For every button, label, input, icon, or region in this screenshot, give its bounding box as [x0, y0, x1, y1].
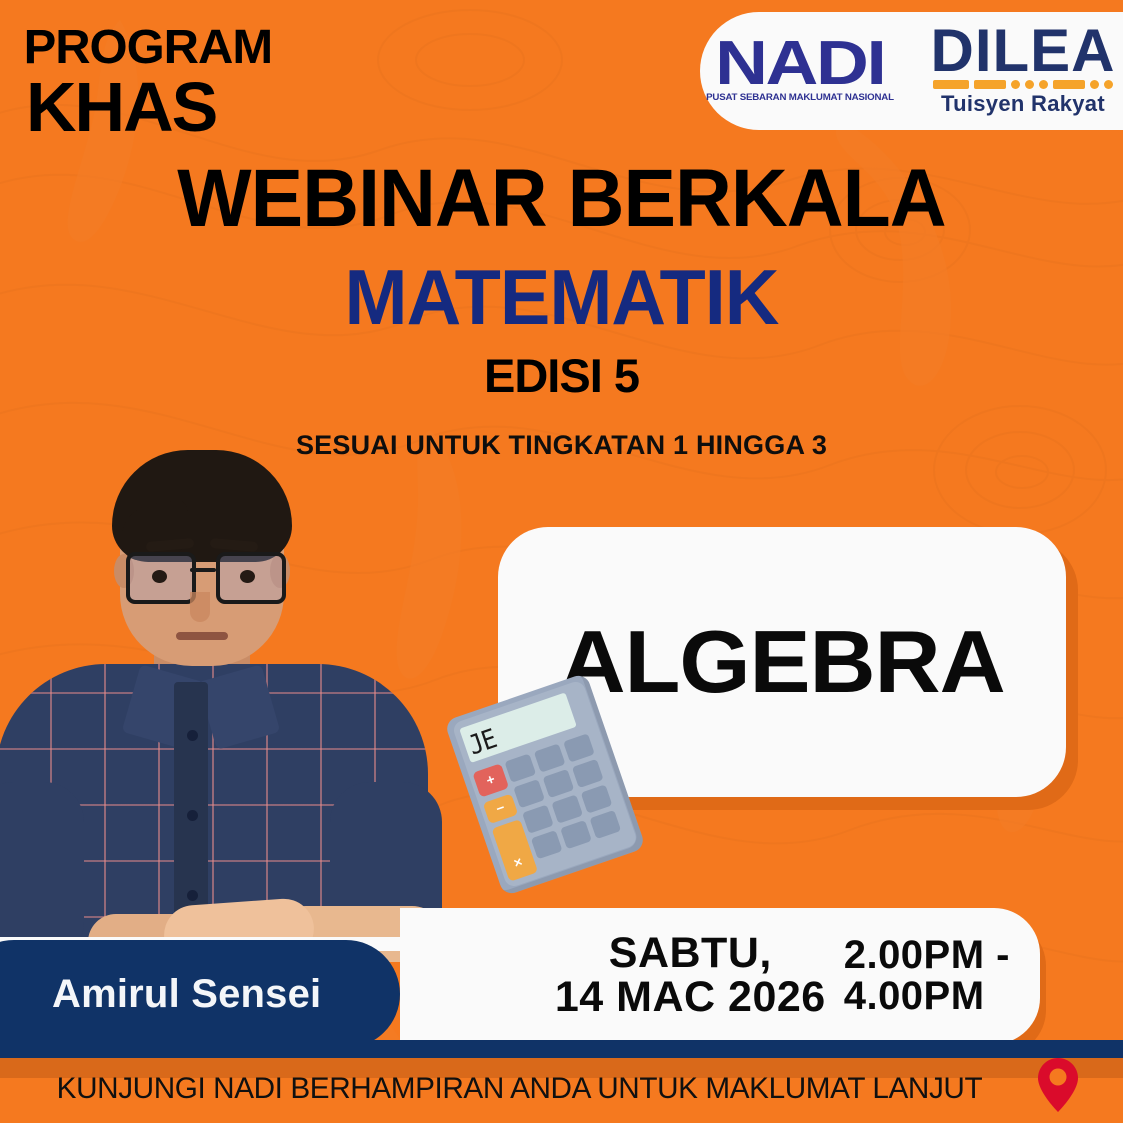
speaker-badge: Amirul Sensei: [0, 940, 400, 1048]
poster-canvas: NADI PUSAT SEBARAN MAKLUMAT NASIONAL DIL…: [0, 0, 1123, 1123]
calculator-key: [522, 805, 554, 834]
dilea-tagline: Tuisyen Rakyat: [941, 91, 1105, 117]
shirt-button: [187, 810, 198, 821]
shirt-button: [187, 890, 198, 901]
page-title: WEBINAR BERKALA: [22, 158, 1100, 240]
plus-icon: +: [484, 771, 497, 789]
shirt-button: [187, 730, 198, 741]
glasses-lens-left: [126, 552, 196, 604]
calculator-key: [513, 779, 545, 808]
schedule-day: SABTU,: [555, 932, 826, 976]
schedule-date: 14 MAC 2026: [555, 976, 826, 1020]
schedule-date-block: SABTU, 14 MAC 2026: [555, 932, 826, 1020]
presenter-photo: [0, 432, 448, 962]
glasses-lens-right: [216, 552, 286, 604]
presenter-eye-right: [240, 570, 255, 583]
dilea-dash: [933, 80, 969, 89]
speaker-name: Amirul Sensei: [52, 972, 321, 1017]
presenter-mouth: [176, 632, 228, 640]
presenter-hair: [112, 450, 292, 562]
nadi-tagline: PUSAT SEBARAN MAKLUMAT NASIONAL: [706, 92, 894, 103]
logo-divider: [909, 34, 912, 108]
schedule-card: SABTU, 14 MAC 2026 2.00PM - 4.00PM: [400, 908, 1040, 1044]
presenter-arm-left: [0, 782, 84, 962]
presenter-eye-left: [152, 570, 167, 583]
program-kicker-emphasis: KHAS: [26, 72, 216, 142]
program-kicker: PROGRAM: [24, 24, 273, 72]
nadi-wordmark: NADI: [715, 39, 884, 90]
glasses-bridge: [190, 568, 216, 572]
dilea-dash: [1053, 80, 1085, 89]
presenter-nose: [190, 592, 210, 622]
calculator-key: [543, 769, 575, 798]
dilea-dot: [1090, 80, 1099, 89]
dilea-dash-row: [933, 80, 1113, 89]
minus-icon: −: [494, 799, 507, 817]
dilea-dash: [974, 80, 1006, 89]
topic-label: ALGEBRA: [559, 611, 1004, 713]
footer-text: KUNJUNGI NADI BERHAMPIRAN ANDA UNTUK MAK…: [57, 1072, 983, 1106]
page-subject: MATEMATIK: [17, 258, 1106, 336]
schedule-time-block: 2.00PM - 4.00PM: [844, 935, 1010, 1017]
partner-logo-card: NADI PUSAT SEBARAN MAKLUMAT NASIONAL DIL…: [700, 12, 1123, 130]
calculator-key: [551, 794, 583, 823]
dilea-dot: [1011, 80, 1020, 89]
dilea-dot: [1104, 80, 1113, 89]
dilea-dot: [1025, 80, 1034, 89]
location-pin-icon: [1036, 1056, 1080, 1114]
dilea-logo: DILEA Tuisyen Rakyat: [930, 25, 1115, 117]
schedule-time-start: 2.00PM -: [844, 935, 1010, 976]
edition-label: EDISI 5: [0, 352, 1123, 399]
schedule-time-end: 4.00PM: [844, 976, 1010, 1017]
dilea-wordmark: DILEA: [930, 25, 1115, 76]
nadi-logo: NADI PUSAT SEBARAN MAKLUMAT NASIONAL: [708, 39, 892, 104]
multiply-icon: ×: [511, 853, 524, 871]
navy-divider-strip: [0, 1040, 1123, 1058]
dilea-dot: [1039, 80, 1048, 89]
